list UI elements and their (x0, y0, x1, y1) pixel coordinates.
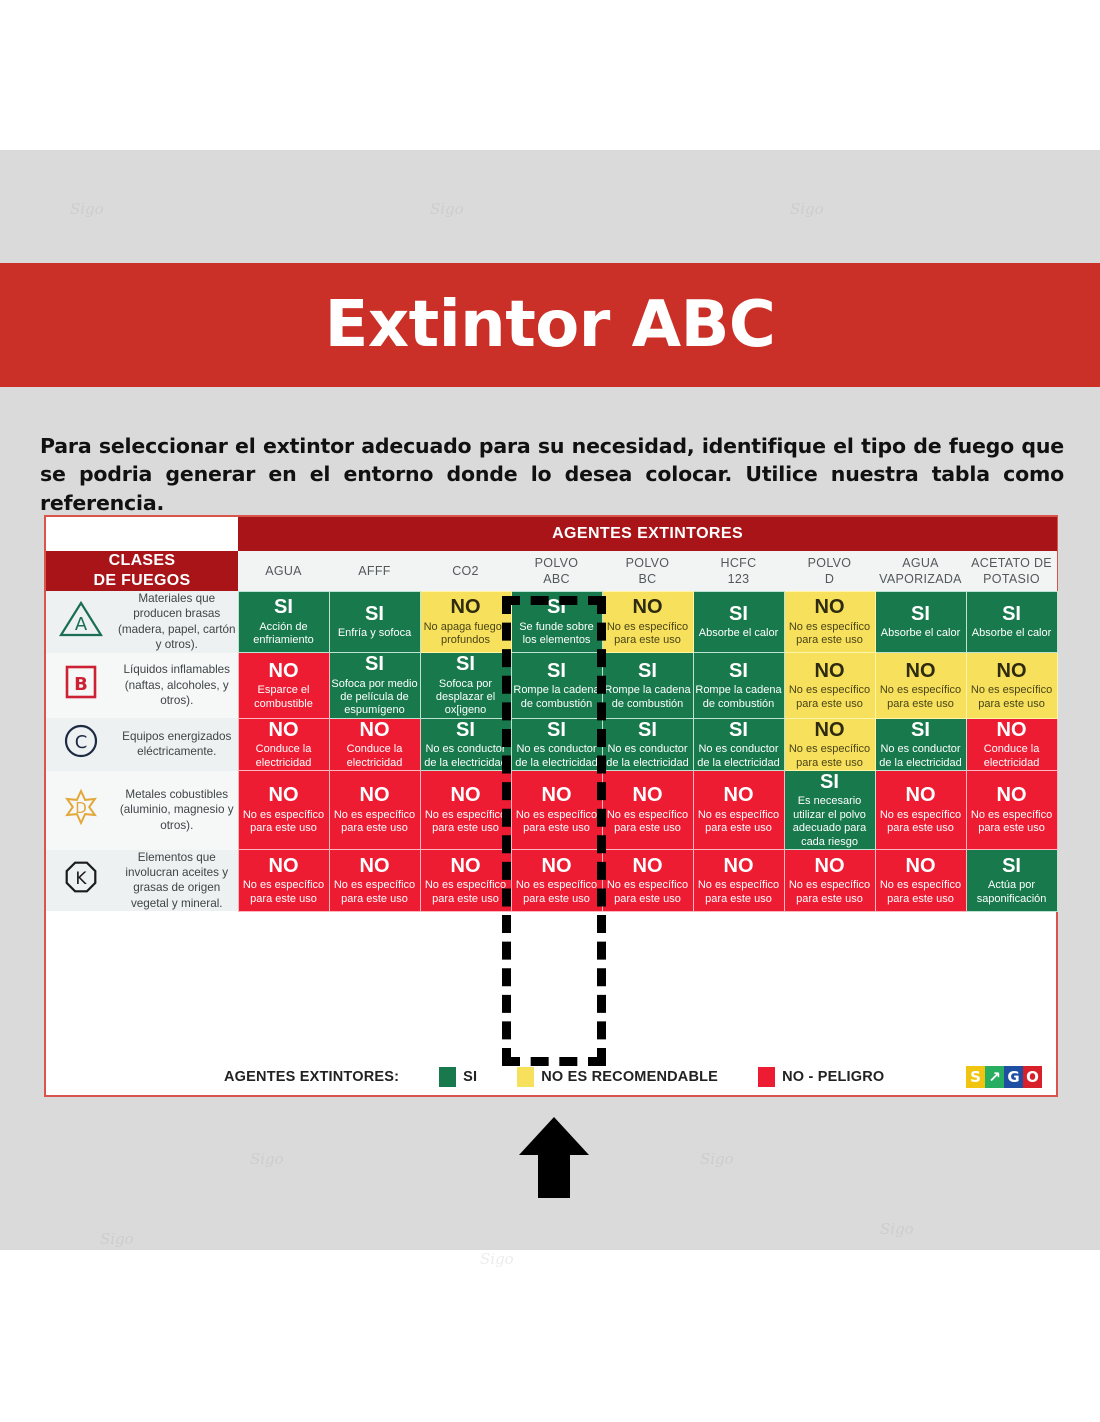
result-cell-A-1: SIEnfría y sofoca (329, 591, 420, 653)
verdict-note: Se funde sobre los elementos (519, 621, 594, 646)
verdict-note: Sofoca por desplazar el ox[igeno (436, 678, 495, 717)
class-icon-cell-A: A (46, 591, 116, 653)
result-cell-K-7: NONo es específico para este uso (875, 850, 966, 912)
verdict-label: SI (694, 660, 784, 682)
verdict-label: NO (330, 784, 420, 806)
svg-text:A: A (75, 614, 88, 635)
verdict-label: SI (330, 603, 420, 625)
verdict-note: Enfría y sofoca (338, 627, 411, 639)
result-cell-B-5: SIRompe la cadena de combustión (693, 653, 784, 719)
verdict-label: SI (603, 660, 693, 682)
table-column-headers: CLASESDE FUEGOSAGUAAFFFCO2POLVOABCPOLVOB… (46, 551, 1057, 591)
verdict-label: NO (330, 855, 420, 877)
verdict-label: NO (785, 596, 875, 618)
sigo-logo-o: O (1023, 1066, 1042, 1088)
verdict-label: SI (512, 719, 602, 741)
table-row: BLíquidos inflamables (naftas, alcoholes… (46, 653, 1057, 719)
verdict-note: No es específico para este uso (971, 809, 1052, 834)
legend-item-si: SI (399, 1067, 477, 1087)
verdict-label: SI (967, 855, 1057, 877)
verdict-note: Absorbe el calor (881, 627, 961, 639)
table-row: AMateriales que producen brasas (madera,… (46, 591, 1057, 653)
clases-de-fuegos-header: CLASESDE FUEGOS (46, 551, 238, 591)
verdict-label: NO (785, 719, 875, 741)
result-cell-A-6: NONo es específico para este uso (784, 591, 875, 653)
verdict-label: SI (694, 719, 784, 741)
verdict-label: NO (239, 660, 329, 682)
verdict-label: SI (785, 771, 875, 793)
result-cell-B-0: NOEsparce el combustible (238, 653, 329, 719)
verdict-note: Esparce el combustible (254, 684, 313, 709)
verdict-note: No es específico para este uso (607, 621, 688, 646)
result-cell-K-1: NONo es específico para este uso (329, 850, 420, 912)
sigo-logo-arrow-icon: ↗ (985, 1066, 1004, 1088)
result-cell-D-4: NONo es específico para este uso (602, 771, 693, 850)
agent-column-header-4: POLVOBC (602, 551, 693, 591)
legend-swatch-yellow (517, 1067, 534, 1087)
verdict-label: SI (512, 596, 602, 618)
svg-text:K: K (75, 869, 87, 889)
result-cell-A-8: SIAbsorbe el calor (966, 591, 1057, 653)
result-cell-C-5: SINo es conductor de la electricidad (693, 718, 784, 770)
verdict-label: NO (876, 660, 966, 682)
agent-column-header-0: AGUA (238, 551, 329, 591)
verdict-note: Es necesario utilizar el polvo adecuado … (793, 795, 866, 847)
verdict-label: NO (876, 855, 966, 877)
result-cell-A-0: SIAcción de enfriamiento (238, 591, 329, 653)
table-header-band: AGENTES EXTINTORES (46, 517, 1057, 551)
intro-paragraph: Para seleccionar el extintor adecuado pa… (40, 432, 1064, 517)
class-icon-cell-D: D (46, 771, 116, 850)
verdict-note: Conduce la electricidad (347, 743, 403, 768)
result-cell-B-8: NONo es específico para este uso (966, 653, 1057, 719)
sigo-logo: S ↗ G O (966, 1066, 1042, 1088)
verdict-note: No es específico para este uso (334, 809, 415, 834)
verdict-label: NO (694, 784, 784, 806)
result-cell-C-8: NOConduce la electricidad (966, 718, 1057, 770)
title-banner: Extintor ABC (0, 263, 1100, 387)
result-cell-C-0: NOConduce la electricidad (238, 718, 329, 770)
verdict-note: No es específico para este uso (425, 809, 506, 834)
result-cell-K-2: NONo es específico para este uso (420, 850, 511, 912)
verdict-label: SI (967, 603, 1057, 625)
class-description-C: Equipos energizados eléctricamente. (116, 718, 238, 770)
legend-item-no-recomendable: NO ES RECOMENDABLE (477, 1067, 718, 1087)
result-cell-D-5: NONo es específico para este uso (693, 771, 784, 850)
square-b-icon: B (58, 663, 104, 703)
verdict-note: No es conductor de la electricidad (697, 743, 780, 768)
verdict-note: Absorbe el calor (972, 627, 1052, 639)
verdict-label: NO (239, 855, 329, 877)
circle-c-icon: C (58, 722, 104, 762)
result-cell-K-3: NONo es específico para este uso (511, 850, 602, 912)
verdict-label: NO (421, 855, 511, 877)
verdict-label: SI (421, 653, 511, 675)
verdict-label: NO (239, 719, 329, 741)
verdict-note: No apaga fuegos profundos (424, 621, 508, 646)
agentes-extintores-header: AGENTES EXTINTORES (238, 517, 1057, 551)
extinguisher-table: AGENTES EXTINTORESCLASESDE FUEGOSAGUAAFF… (44, 515, 1058, 1097)
result-cell-A-3: SISe funde sobre los elementos (511, 591, 602, 653)
class-description-B: Líquidos inflamables (naftas, alcoholes,… (116, 653, 238, 719)
result-cell-A-4: NONo es específico para este uso (602, 591, 693, 653)
legend-bar: AGENTES EXTINTORES: SI NO ES RECOMENDABL… (46, 1057, 1056, 1095)
legend-label-peligro: NO - PELIGRO (782, 1069, 884, 1085)
verdict-note: No es conductor de la electricidad (515, 743, 598, 768)
verdict-label: NO (603, 855, 693, 877)
legend-item-peligro: NO - PELIGRO (718, 1067, 884, 1087)
result-cell-D-3: NONo es específico para este uso (511, 771, 602, 850)
verdict-label: NO (239, 784, 329, 806)
class-icon-cell-K: K (46, 850, 116, 912)
verdict-label: NO (785, 855, 875, 877)
legend-label-no-recomendable: NO ES RECOMENDABLE (541, 1069, 718, 1085)
verdict-label: NO (694, 855, 784, 877)
result-cell-D-8: NONo es específico para este uso (966, 771, 1057, 850)
table-row: CEquipos energizados eléctricamente.NOCo… (46, 718, 1057, 770)
verdict-note: No es específico para este uso (698, 879, 779, 904)
svg-text:C: C (75, 732, 88, 753)
result-cell-B-1: SISofoca por medio de película de espumí… (329, 653, 420, 719)
result-cell-C-1: NOConduce la electricidad (329, 718, 420, 770)
result-cell-A-7: SIAbsorbe el calor (875, 591, 966, 653)
result-cell-K-0: NONo es específico para este uso (238, 850, 329, 912)
class-icon-cell-B: B (46, 653, 116, 719)
verdict-note: Rompe la cadena de combustión (695, 684, 781, 709)
result-cell-D-2: NONo es específico para este uso (420, 771, 511, 850)
agent-column-header-7: AGUAVAPORIZADA (875, 551, 966, 591)
verdict-note: No es específico para este uso (607, 809, 688, 834)
verdict-note: Conduce la electricidad (984, 743, 1040, 768)
verdict-note: No es conductor de la electricidad (879, 743, 962, 768)
verdict-note: No es específico para este uso (789, 879, 870, 904)
verdict-label: SI (694, 603, 784, 625)
verdict-note: No es conductor de la electricidad (424, 743, 507, 768)
verdict-note: No es conductor de la electricidad (606, 743, 689, 768)
result-cell-A-2: NONo apaga fuegos profundos (420, 591, 511, 653)
svg-text:B: B (74, 674, 88, 695)
verdict-note: No es específico para este uso (789, 743, 870, 768)
agent-column-header-2: CO2 (420, 551, 511, 591)
verdict-note: No es específico para este uso (971, 684, 1052, 709)
result-cell-B-6: NONo es específico para este uso (784, 653, 875, 719)
verdict-label: NO (603, 596, 693, 618)
verdict-note: No es específico para este uso (880, 879, 961, 904)
result-cell-B-3: SIRompe la cadena de combustión (511, 653, 602, 719)
verdict-label: NO (967, 660, 1057, 682)
verdict-label: SI (239, 596, 329, 618)
verdict-note: No es específico para este uso (243, 809, 324, 834)
legend-title: AGENTES EXTINTORES: (224, 1069, 399, 1085)
verdict-note: Rompe la cadena de combustión (604, 684, 690, 709)
verdict-label: SI (876, 603, 966, 625)
verdict-label: SI (421, 719, 511, 741)
compatibility-grid: AGENTES EXTINTORESCLASESDE FUEGOSAGUAAFF… (46, 517, 1058, 912)
verdict-label: NO (512, 784, 602, 806)
sigo-logo-s: S (966, 1066, 985, 1088)
result-cell-C-3: SINo es conductor de la electricidad (511, 718, 602, 770)
infographic-page: Extintor ABC Para seleccionar el extinto… (0, 0, 1100, 1422)
result-cell-K-8: SIActúa por saponificación (966, 850, 1057, 912)
agent-column-header-6: POLVOD (784, 551, 875, 591)
class-description-A: Materiales que producen brasas (madera, … (116, 591, 238, 653)
verdict-label: NO (967, 784, 1057, 806)
verdict-note: Absorbe el calor (699, 627, 779, 639)
page-title: Extintor ABC (325, 288, 776, 362)
result-cell-D-1: NONo es específico para este uso (329, 771, 420, 850)
verdict-label: NO (876, 784, 966, 806)
legend-swatch-red (758, 1067, 775, 1087)
verdict-label: NO (603, 784, 693, 806)
result-cell-C-4: SINo es conductor de la electricidad (602, 718, 693, 770)
octagon-k-icon: K (58, 858, 104, 898)
verdict-note: No es específico para este uso (607, 879, 688, 904)
verdict-note: Actúa por saponificación (977, 879, 1047, 904)
verdict-label: NO (967, 719, 1057, 741)
result-cell-K-6: NONo es específico para este uso (784, 850, 875, 912)
agent-column-header-1: AFFF (329, 551, 420, 591)
verdict-note: No es específico para este uso (789, 621, 870, 646)
verdict-label: NO (421, 596, 511, 618)
class-description-K: Elementos que involucran aceites y grasa… (116, 850, 238, 912)
result-cell-D-7: NONo es específico para este uso (875, 771, 966, 850)
verdict-label: SI (603, 719, 693, 741)
result-cell-D-6: SIEs necesario utilizar el polvo adecuad… (784, 771, 875, 850)
verdict-note: No es específico para este uso (334, 879, 415, 904)
verdict-note: No es específico para este uso (516, 879, 597, 904)
result-cell-A-5: SIAbsorbe el calor (693, 591, 784, 653)
table-row: DMetales cobustibles (aluminio, magnesio… (46, 771, 1057, 850)
star-d-icon: D (58, 788, 104, 828)
result-cell-K-5: NONo es específico para este uso (693, 850, 784, 912)
result-cell-B-7: NONo es específico para este uso (875, 653, 966, 719)
result-cell-B-2: SISofoca por desplazar el ox[igeno (420, 653, 511, 719)
verdict-note: No es específico para este uso (516, 809, 597, 834)
verdict-note: No es específico para este uso (880, 809, 961, 834)
verdict-label: SI (330, 653, 420, 675)
verdict-label: SI (512, 660, 602, 682)
agent-column-header-3: POLVOABC (511, 551, 602, 591)
verdict-note: Sofoca por medio de película de espumíge… (331, 678, 417, 717)
verdict-note: No es específico para este uso (698, 809, 779, 834)
triangle-a-icon: A (58, 599, 104, 639)
verdict-label: NO (785, 660, 875, 682)
verdict-note: No es específico para este uso (243, 879, 324, 904)
result-cell-D-0: NONo es específico para este uso (238, 771, 329, 850)
table-row: KElementos que involucran aceites y gras… (46, 850, 1057, 912)
result-cell-C-2: SINo es conductor de la electricidad (420, 718, 511, 770)
verdict-label: NO (512, 855, 602, 877)
verdict-label: NO (330, 719, 420, 741)
class-icon-cell-C: C (46, 718, 116, 770)
verdict-note: Acción de enfriamiento (253, 621, 314, 646)
verdict-note: No es específico para este uso (880, 684, 961, 709)
legend-swatch-green (439, 1067, 456, 1087)
agent-column-header-8: ACETATO DEPOTASIO (966, 551, 1057, 591)
verdict-label: SI (876, 719, 966, 741)
header-blank-cell (46, 517, 238, 551)
legend-label-si: SI (463, 1069, 477, 1085)
class-description-D: Metales cobustibles (aluminio, magnesio … (116, 771, 238, 850)
agent-column-header-5: HCFC123 (693, 551, 784, 591)
verdict-note: No es específico para este uso (789, 684, 870, 709)
sigo-logo-g: G (1004, 1066, 1023, 1088)
verdict-label: NO (421, 784, 511, 806)
verdict-note: Rompe la cadena de combustión (513, 684, 599, 709)
result-cell-C-7: SINo es conductor de la electricidad (875, 718, 966, 770)
up-arrow-icon (517, 1115, 591, 1200)
result-cell-C-6: NONo es específico para este uso (784, 718, 875, 770)
verdict-note: Conduce la electricidad (256, 743, 312, 768)
svg-text:D: D (75, 799, 87, 817)
result-cell-K-4: NONo es específico para este uso (602, 850, 693, 912)
result-cell-B-4: SIRompe la cadena de combustión (602, 653, 693, 719)
verdict-note: No es específico para este uso (425, 879, 506, 904)
